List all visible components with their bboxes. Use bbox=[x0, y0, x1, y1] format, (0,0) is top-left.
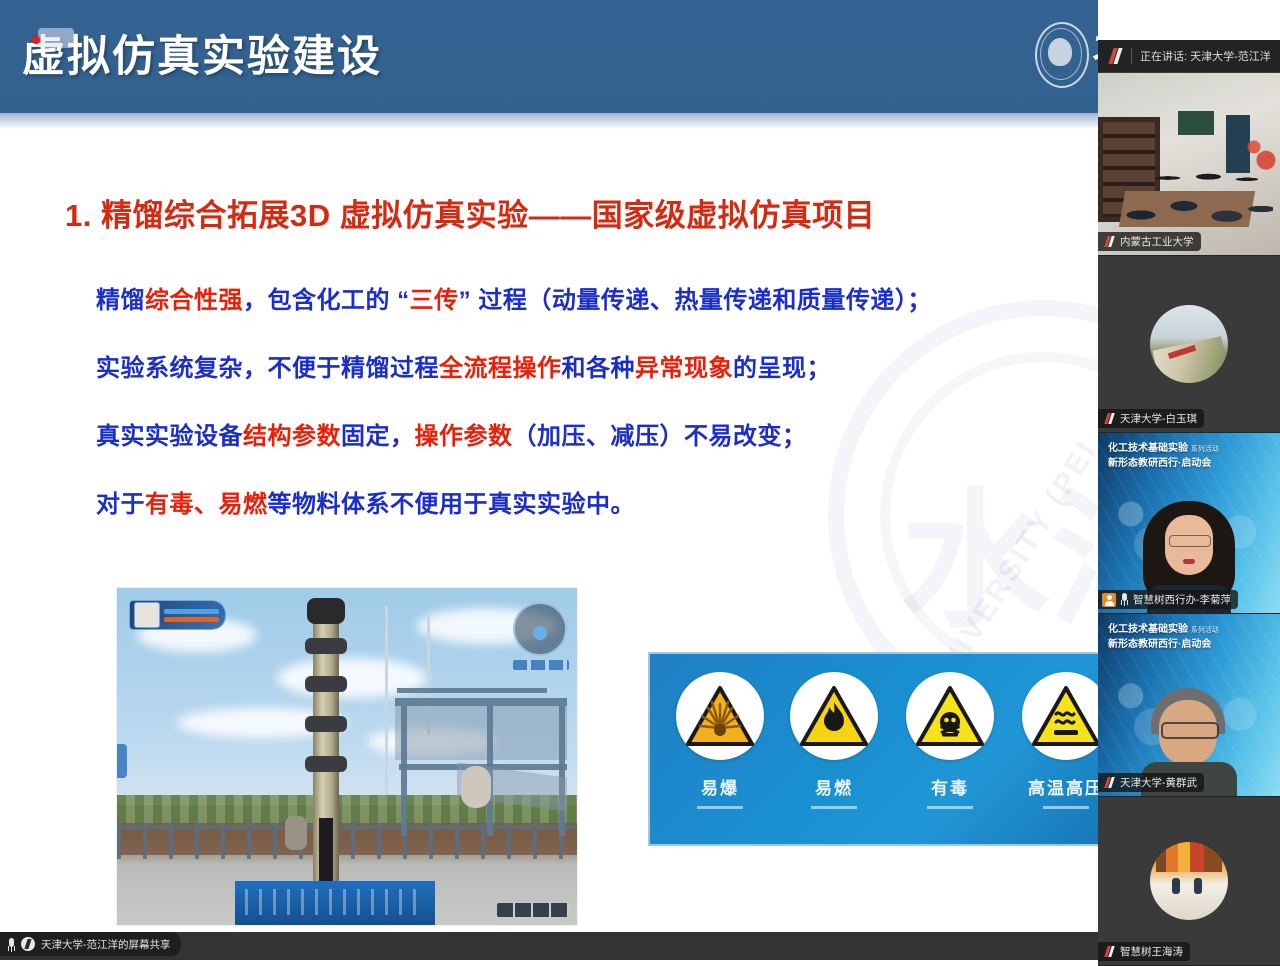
railing bbox=[117, 823, 577, 859]
active-speaker-label: 正在讲话: 天津大学-范江洋 bbox=[1140, 48, 1271, 64]
participant-label: 内蒙古工业大学 bbox=[1098, 232, 1201, 251]
screen-share-status-chip[interactable]: 天津大学-范江洋的屏幕共享 bbox=[0, 932, 181, 956]
hud-side-tab bbox=[117, 744, 127, 778]
player-avatar-icon bbox=[134, 602, 160, 628]
simulation-screenshot bbox=[117, 588, 577, 925]
participant-name: 内蒙古工业大学 bbox=[1120, 234, 1194, 249]
microphone-icon bbox=[1120, 593, 1129, 606]
presenter-cursor-highlight bbox=[38, 28, 74, 48]
microphone-icon bbox=[6, 937, 16, 952]
screen-share-label: 天津大学-范江洋的屏幕共享 bbox=[41, 937, 171, 952]
app-logo-icon bbox=[1102, 413, 1116, 425]
plain-text: 实验系统复杂，不便于精馏过程 bbox=[96, 355, 439, 382]
plain-text: 的呈现； bbox=[733, 355, 831, 382]
screen-share-icon bbox=[21, 937, 35, 951]
background-banner-text: 化工技术基础实验 系列活动 新形态教研西行·启动会 bbox=[1108, 622, 1274, 652]
plain-text: （加压、减压）不易改变； bbox=[513, 423, 807, 450]
reboiler bbox=[285, 816, 307, 850]
participant-label: 智慧树西行办-李菊萍 bbox=[1098, 590, 1238, 609]
app-logo-icon bbox=[1102, 777, 1116, 789]
plain-text: 对于 bbox=[96, 491, 145, 518]
participant-name: 天津大学-白玉琪 bbox=[1120, 411, 1197, 426]
bottom-toolbar-filler bbox=[520, 932, 1098, 960]
platform-rail bbox=[397, 688, 547, 693]
background-tag: 系列活动 bbox=[1191, 627, 1219, 634]
participant-tile-5[interactable]: 智慧树王海涛 bbox=[1098, 797, 1280, 966]
bullet-list: 精馏综合性强，包含化工的 “三传” 过程（动量传递、热量传递和质量传递）； 实验… bbox=[96, 280, 1056, 552]
plain-text: ，包含化工的 “ bbox=[243, 287, 410, 314]
participant-label: 天津大学-黄群武 bbox=[1098, 773, 1204, 792]
background-subtitle: 新形态教研西行·启动会 bbox=[1108, 639, 1211, 650]
column-top-cap bbox=[307, 598, 345, 624]
bottom-toolbar: 天津大学-范江洋的屏幕共享 bbox=[0, 932, 1098, 960]
app-logo-icon bbox=[1102, 946, 1116, 958]
hud-toolbar bbox=[513, 660, 569, 670]
participant-panel: 正在讲话: 天津大学-范江洋 内蒙古工业大学 天津大学-白玉琪 bbox=[1098, 40, 1280, 960]
hazard-item: 高温高压 bbox=[1018, 672, 1098, 809]
plain-text: ” 过程（动量传递、热量传递和质量传递）； bbox=[459, 287, 932, 314]
participant-tile-2[interactable]: 天津大学-白玉琪 bbox=[1098, 256, 1280, 433]
presenter-cursor-dot bbox=[32, 36, 40, 44]
highlighted-text: 操作参数 bbox=[415, 423, 513, 450]
highlighted-text: 综合性强 bbox=[145, 287, 243, 314]
divider bbox=[1131, 48, 1132, 64]
player-status-bars bbox=[164, 609, 225, 622]
high-temperature-hazard-icon bbox=[1022, 672, 1098, 760]
base-grill bbox=[245, 889, 425, 915]
participant-name: 天津大学-黄群武 bbox=[1120, 775, 1197, 790]
hazard-label: 有毒 bbox=[902, 774, 998, 799]
highlighted-text: 有毒、易燃 bbox=[145, 491, 268, 518]
virtual-background: 化工技术基础实验 系列活动 新形态教研西行·启动会 bbox=[1098, 614, 1280, 796]
room-video bbox=[1098, 73, 1280, 255]
screen-share-window: 虚拟仿真实验建设 天津大学 UNIVERSITY (PEI 水洋 1. 精馏综合… bbox=[0, 0, 1280, 960]
participant-tile-1[interactable]: 内蒙古工业大学 bbox=[1098, 73, 1280, 256]
platform-deck bbox=[395, 698, 567, 706]
participant-name: 智慧树西行办-李菊萍 bbox=[1133, 592, 1231, 607]
hazard-item: 易爆 bbox=[672, 672, 768, 809]
background-tag: 系列活动 bbox=[1191, 446, 1219, 453]
hazard-item: 有毒 bbox=[902, 672, 998, 809]
app-logo-icon bbox=[1104, 47, 1126, 65]
avatar bbox=[1150, 842, 1228, 920]
plain-text: 精馏 bbox=[96, 287, 145, 314]
avatar-placeholder bbox=[1098, 256, 1280, 432]
column-ring bbox=[305, 638, 347, 654]
player-hud bbox=[129, 600, 226, 630]
slide-title: 虚拟仿真实验建设 bbox=[22, 22, 382, 84]
flammable-hazard-icon bbox=[790, 672, 878, 760]
column-ring bbox=[305, 716, 347, 732]
bullet-line-3: 真实实验设备结构参数固定，操作参数（加压、减压）不易改变； bbox=[96, 416, 1056, 451]
plain-text: 固定， bbox=[341, 423, 415, 450]
platform-grating bbox=[395, 706, 567, 760]
highlighted-text: 三传 bbox=[410, 287, 459, 314]
highlighted-text: 全流程操作 bbox=[439, 355, 562, 382]
participant-name: 智慧树王海涛 bbox=[1120, 944, 1183, 959]
shared-slide: 虚拟仿真实验建设 天津大学 UNIVERSITY (PEI 水洋 1. 精馏综合… bbox=[0, 0, 1098, 932]
participant-label: 天津大学-白玉琪 bbox=[1098, 409, 1204, 428]
host-badge-icon bbox=[1102, 593, 1116, 607]
plain-text: 和各种 bbox=[562, 355, 636, 382]
platform-column bbox=[559, 706, 565, 836]
plain-text: 真实实验设备 bbox=[96, 423, 243, 450]
tju-seal-icon bbox=[1032, 18, 1090, 88]
hud-bottom-toolbar bbox=[497, 903, 569, 917]
bullet-line-2: 实验系统复杂，不便于精馏过程全流程操作和各种异常现象的呈现； bbox=[96, 348, 1056, 383]
hazard-label: 易爆 bbox=[672, 774, 768, 799]
participant-label: 智慧树王海涛 bbox=[1098, 942, 1190, 961]
plain-text: 等物料体系不便用于真实实验中。 bbox=[268, 491, 636, 518]
highlighted-text: 结构参数 bbox=[243, 423, 341, 450]
hazard-sign-board: 易爆 易燃 bbox=[648, 652, 1098, 846]
background-title: 化工技术基础实验 bbox=[1108, 443, 1188, 454]
background-banner-text: 化工技术基础实验 系列活动 新形态教研西行·启动会 bbox=[1108, 441, 1274, 471]
active-speaker-bar: 正在讲话: 天津大学-范江洋 bbox=[1098, 40, 1280, 73]
toxic-hazard-icon bbox=[906, 672, 994, 760]
mast-pole bbox=[385, 606, 388, 826]
minimap-icon bbox=[513, 602, 567, 656]
hazard-item: 易燃 bbox=[786, 672, 882, 809]
highlighted-text: 异常现象 bbox=[635, 355, 733, 382]
explosive-hazard-icon bbox=[676, 672, 764, 760]
bullet-line-1: 精馏综合性强，包含化工的 “三传” 过程（动量传递、热量传递和质量传递）； bbox=[96, 280, 1056, 315]
virtual-background: 化工技术基础实验 系列活动 新形态教研西行·启动会 bbox=[1098, 433, 1280, 613]
background-title: 化工技术基础实验 bbox=[1108, 624, 1188, 635]
page-title: 1. 精馏综合拓展3D 虚拟仿真实验——国家级虚拟仿真项目 bbox=[65, 190, 875, 235]
avatar-placeholder bbox=[1098, 797, 1280, 965]
participant-tile-4[interactable]: 化工技术基础实验 系列活动 新形态教研西行·启动会 天津大学-黄群武 bbox=[1098, 614, 1280, 797]
hazard-label: 高温高压 bbox=[1018, 774, 1098, 799]
bullet-line-4: 对于有毒、易燃等物料体系不便用于真实实验中。 bbox=[96, 484, 1056, 519]
app-logo-icon bbox=[1102, 236, 1116, 248]
column-ring bbox=[305, 676, 347, 692]
participant-tile-3[interactable]: 化工技术基础实验 系列活动 新形态教研西行·启动会 智慧树西行办-李菊萍 bbox=[1098, 433, 1280, 614]
vessel bbox=[461, 766, 491, 808]
background-subtitle: 新形态教研西行·启动会 bbox=[1108, 458, 1211, 469]
hazard-label: 易燃 bbox=[786, 774, 882, 799]
platform-column bbox=[401, 706, 407, 836]
avatar bbox=[1150, 305, 1228, 383]
column-ring bbox=[305, 756, 347, 772]
